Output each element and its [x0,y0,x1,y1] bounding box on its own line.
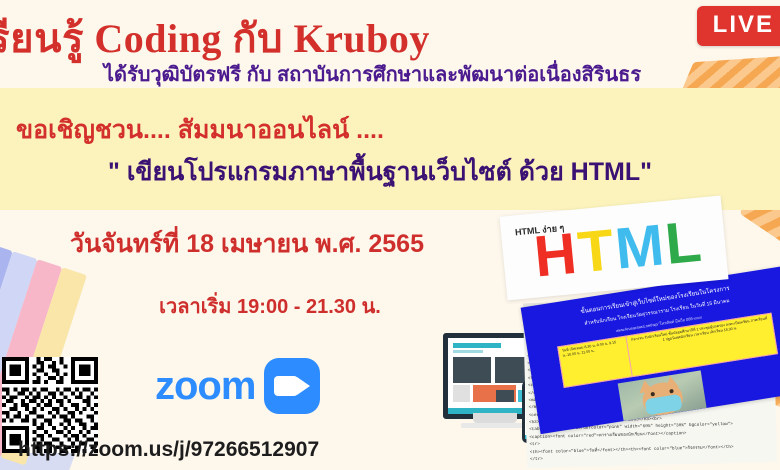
zoom-camera-icon [264,358,320,414]
letter-h: H [531,226,580,285]
zoom-wordmark: zoom [155,366,255,406]
monitor-base [461,423,529,428]
zoom-logo: zoom [155,358,320,414]
event-time: เวลาเริ่ม 19:00 - 21.30 น. [60,290,480,322]
zoom-meeting-url[interactable]: https://zoom.us/j/97266512907 [18,438,319,462]
html-letters: H T M L [531,214,705,285]
letter-m: M [612,217,667,277]
banner-line-2: " เขียนโปรแกรมภาษาพื้นฐานเว็บไซต์ ด้วย H… [0,152,770,192]
page-subtitle: ได้รับวุฒิบัตรฟรี กับ สถาบันการศึกษาและพ… [0,58,745,90]
live-badge: LIVE [697,6,780,46]
slide-table-col-1: วันที่ เปิดเทอม 8.30 น.-9.00 น. 9.15 น.-… [558,337,632,387]
event-date: วันจันทร์ที่ 18 เมษายน พ.ศ. 2565 [12,224,482,264]
monitor-stand [473,413,517,423]
poster-canvas: LIVE เรียนรู้ Coding กับ Kruboy ได้รับวุ… [0,0,780,470]
letter-l: L [662,214,705,272]
banner-line-1: ขอเชิญชวน.... สัมมนาออนไลน์ .... [0,110,776,150]
announcement-banner: ขอเชิญชวน.... สัมมนาออนไลน์ .... " เขียน… [0,88,780,210]
letter-t: T [575,222,618,280]
